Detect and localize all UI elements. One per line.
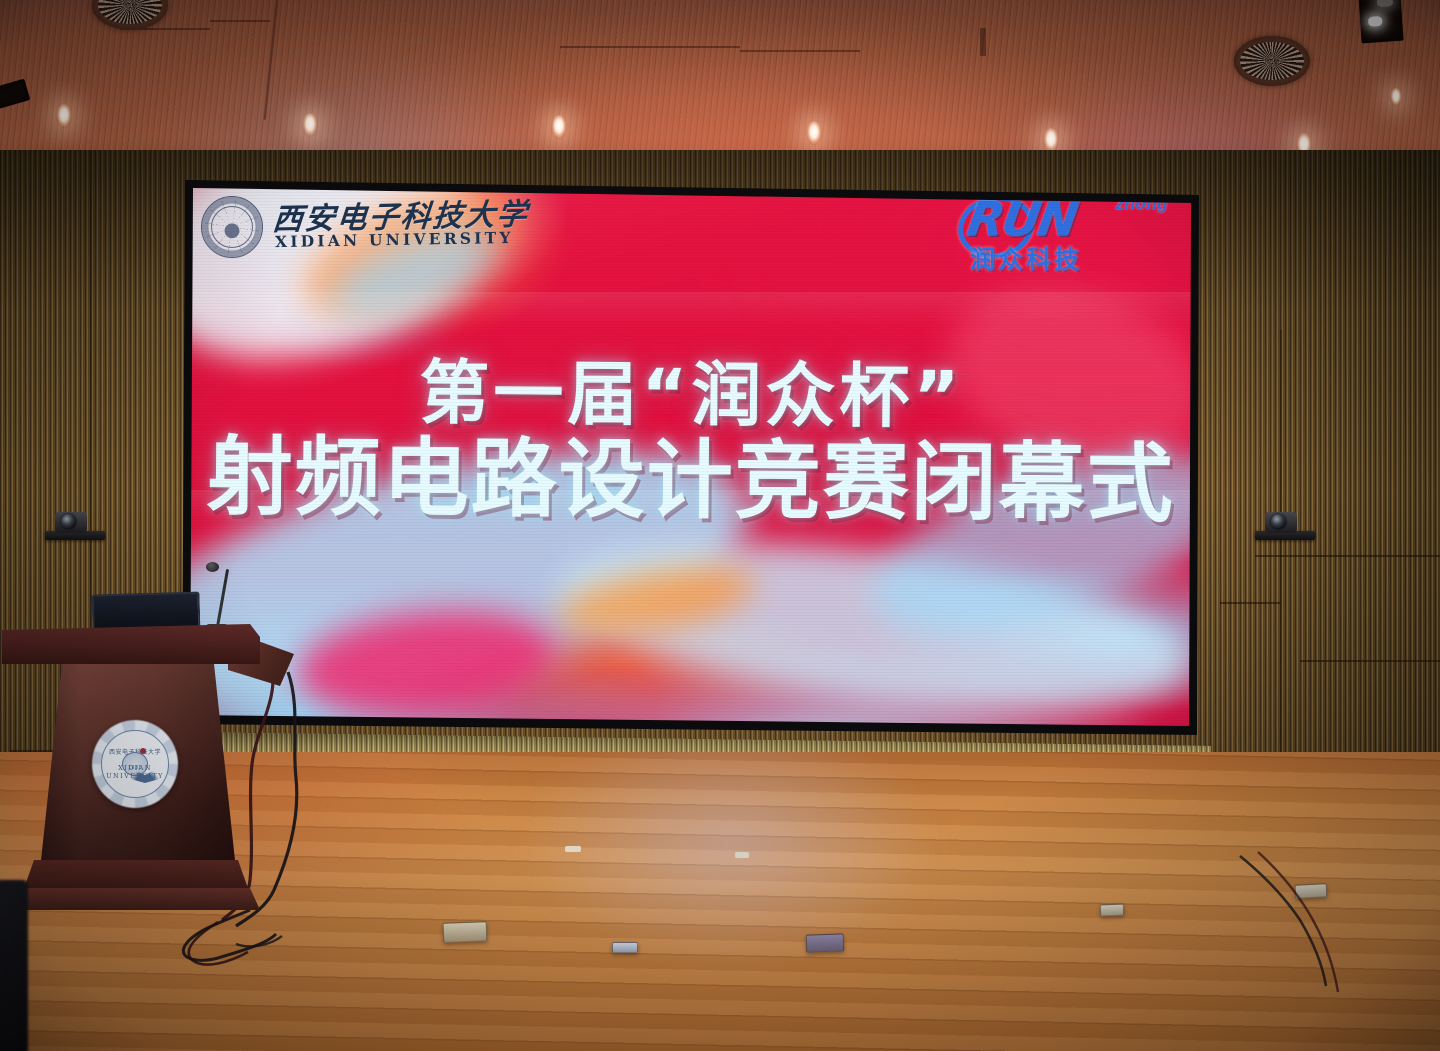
lectern: 西安电子科技大学 西安电子科技大学 1931 XIDIAN UNIVERSITY: [0, 592, 300, 942]
spotlight: [1377, 0, 1394, 7]
ptz-camera-left: [45, 510, 105, 540]
ceiling-seam: [210, 20, 270, 22]
emblem-english: XIDIAN UNIVERSITY: [102, 764, 168, 780]
ceiling-seam: [980, 28, 986, 56]
ceiling-seam: [740, 50, 860, 52]
floor-light-reflection: [520, 752, 940, 972]
downlight: [56, 104, 72, 128]
camera-lens-icon: [61, 514, 76, 529]
led-screen: 西安电子科技大学 XIDIAN UNIVERSITY RUN zhong 润众科…: [176, 172, 1206, 742]
microphone-icon: [206, 562, 219, 572]
foreground-object-left: [0, 880, 28, 1051]
wall-seam: [1220, 602, 1280, 604]
spotlight: [1368, 16, 1383, 27]
ptz-camera-right: [1255, 510, 1315, 540]
ceiling-seam: [560, 46, 740, 48]
auditorium-photo: 西安电子科技大学 XIDIAN UNIVERSITY RUN zhong 润众科…: [0, 0, 1440, 1051]
downlight: [302, 113, 318, 137]
downlight: [1043, 128, 1059, 152]
lectern-top: 西安电子科技大学: [2, 624, 260, 664]
wall-seam: [1255, 555, 1440, 557]
downlight: [806, 121, 822, 145]
lectern-plinth: [10, 888, 260, 910]
downlight: [551, 115, 567, 139]
floor-outlet-box: [443, 921, 488, 943]
camera-lens-icon: [1271, 514, 1286, 529]
emblem-outer-ring: 西安电子科技大学 1931 XIDIAN UNIVERSITY: [101, 730, 169, 798]
emblem-dot-icon: [140, 748, 146, 754]
downlight: [1390, 88, 1402, 106]
ceiling-light-slot-right: [1358, 0, 1403, 43]
university-emblem: 西安电子科技大学 1931 XIDIAN UNIVERSITY: [92, 720, 178, 808]
floor-outlet-box: [1100, 904, 1124, 917]
floor-marker: [735, 852, 749, 858]
floor-outlet-cover: [612, 942, 638, 953]
screen-scanline-overlay: [176, 172, 1206, 742]
floor-marker: [565, 846, 581, 852]
floor-outlet-box: [1295, 883, 1328, 899]
ceiling-vent-right: [1234, 36, 1310, 86]
floor-outlet-box: [806, 933, 845, 952]
wall-seam: [1300, 660, 1440, 662]
